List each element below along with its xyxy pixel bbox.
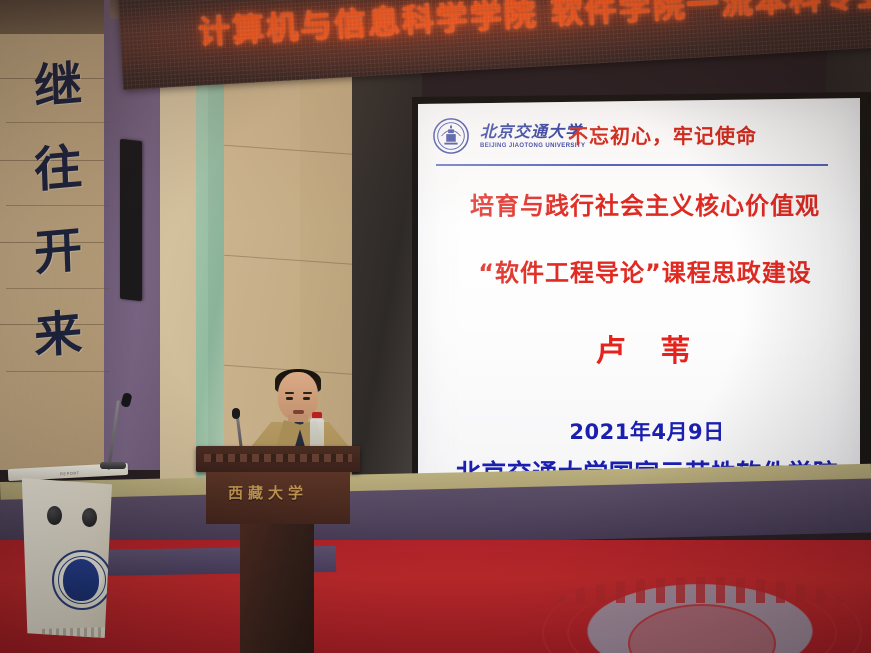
lectern-base-stripe bbox=[42, 627, 108, 639]
calligraphy-panel: 开 bbox=[6, 206, 110, 289]
slide-title-line2: “软件工程导论”课程思政建设 bbox=[424, 253, 866, 288]
calligraphy-char: 继 bbox=[33, 44, 83, 118]
podium-top bbox=[196, 446, 360, 472]
slide-header-rule bbox=[436, 164, 828, 166]
calligraphy-char: 开 bbox=[33, 210, 83, 284]
slide-motto: 不忘初心，牢记使命 bbox=[568, 120, 757, 149]
calligraphy-panel: 继 bbox=[6, 40, 110, 123]
podium-venue-name: 西藏大学 bbox=[196, 482, 340, 503]
speaker-eye bbox=[286, 397, 293, 400]
dark-pillar bbox=[352, 28, 422, 508]
speaker-eye bbox=[303, 397, 310, 400]
lectern-seal-icon bbox=[52, 550, 112, 610]
slide: 北京交通大学 BEIJING JIAOTONG UNIVERSITY 不忘初心，… bbox=[418, 98, 860, 512]
slide-date: 2021年4月9日 bbox=[426, 416, 868, 446]
projection-screen: 北京交通大学 BEIJING JIAOTONG UNIVERSITY 不忘初心，… bbox=[418, 98, 860, 512]
lectern-knob-icon bbox=[47, 506, 62, 525]
wood-podium: 西藏大学 bbox=[196, 446, 360, 653]
white-lectern: REPORT bbox=[6, 462, 128, 642]
led-banner: 计算机与信息科学学院 软件学院一流本科专业建 bbox=[118, 0, 871, 90]
microphone-base bbox=[100, 462, 126, 469]
podium-dentil-trim bbox=[204, 454, 352, 462]
podium-microphone-icon bbox=[232, 408, 240, 419]
speaker-eyebrow bbox=[285, 392, 294, 394]
calligraphy-char: 往 bbox=[33, 127, 83, 201]
speaker-eyebrow bbox=[303, 392, 312, 394]
calligraphy-panel: 往 bbox=[6, 123, 110, 206]
speaker-mouth bbox=[293, 410, 304, 414]
wall-calligraphy: 继 往 开 来 bbox=[6, 40, 110, 370]
calligraphy-char: 来 bbox=[33, 293, 83, 367]
lectern-body bbox=[20, 478, 112, 638]
bjtu-logo-icon bbox=[432, 117, 470, 155]
slide-title-line1: 培育与践行社会主义核心价值观 bbox=[424, 186, 866, 221]
wall-speaker-icon bbox=[120, 139, 142, 301]
lectern-knob-icon bbox=[82, 508, 97, 527]
photo-scene: 继 往 开 来 计算机与信息科学学院 软件学院一流本科专业建 bbox=[0, 0, 871, 653]
lectern-top-label: REPORT bbox=[60, 470, 80, 476]
calligraphy-panel: 来 bbox=[6, 289, 110, 372]
slide-presenter-name: 卢 苇 bbox=[428, 326, 870, 370]
podium-column bbox=[240, 524, 314, 653]
